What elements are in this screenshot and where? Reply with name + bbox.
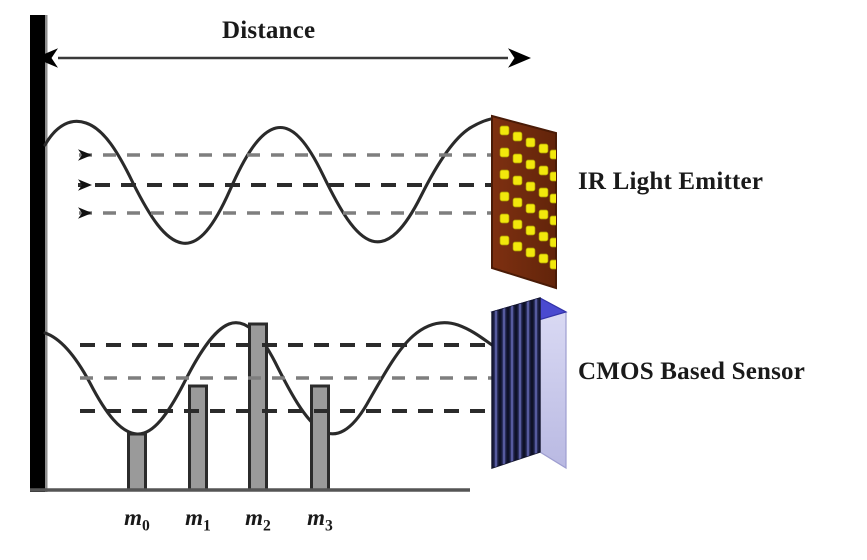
sample-bar-m1 [190,386,207,490]
sample-label-m-0: m0 [124,505,150,536]
sample-label-m-3: m3 [307,505,333,536]
cmos-based-sensor-label: CMOS Based Sensor [578,358,805,386]
ir-emitter-panel [492,116,559,288]
sample-bar-m3 [312,386,329,490]
reflecting-wall [30,15,48,492]
figure-canvas: Distance IR Light Emitter CMOS Based Sen… [0,0,867,560]
sample-label-m-1: m1 [185,505,211,536]
emitted-wave [45,118,496,243]
cmos-sensor-panel [492,298,566,470]
sample-label-m-2: m2 [245,505,271,536]
sample-bar-m0 [129,434,146,490]
ir-light-emitter-label: IR Light Emitter [578,168,763,196]
sensor-dashed-rays [80,345,498,411]
distance-label: Distance [222,17,315,45]
sample-bar-m2 [250,324,267,490]
tof-diagram-svg [0,0,867,560]
emitter-dashed-rays [78,155,500,213]
